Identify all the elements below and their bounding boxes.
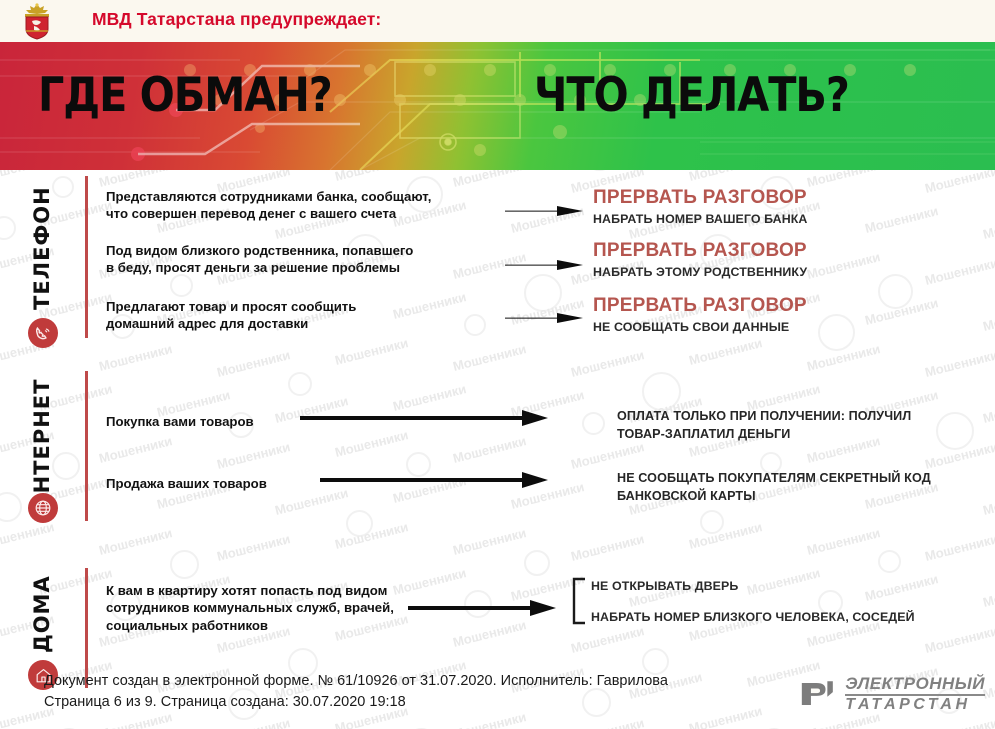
et-logo-mark — [800, 677, 838, 711]
arrow-icon — [505, 309, 585, 327]
telephone-row-1-left: Представляются сотрудниками банка, сообщ… — [106, 188, 486, 223]
telephone-row-3-right-head: ПРЕРВАТЬ РАЗГОВОР — [593, 295, 807, 317]
et-logo-line-1: ЭЛЕКТРОННЫЙ — [845, 675, 985, 696]
banner: ГДЕ ОБМАН? ЧТО ДЕЛАТЬ? — [0, 42, 995, 170]
watermark-text: Мошенники — [569, 531, 645, 564]
bracket-icon — [571, 577, 587, 625]
section-internet: ИНТЕРНЕТ Покупка вами товаров ОПЛАТА ТОЛ… — [0, 365, 995, 535]
watermark-text: Мошенники — [923, 531, 995, 564]
globe-icon — [28, 493, 58, 523]
arrow-icon — [300, 408, 550, 428]
et-logo-line-2: ТАТАРСТАН — [845, 696, 985, 714]
watermark-text: Мошенники — [215, 531, 291, 564]
footer-line-2: Страница 6 из 9. Страница создана: 30.07… — [44, 692, 668, 713]
mvd-emblem-icon — [16, 2, 58, 40]
arrow-icon — [505, 202, 585, 220]
content-area: МошенникиМошенникиМошенникиМошенникиМоше… — [0, 170, 995, 729]
electronic-tatarstan-logo: ЭЛЕКТРОННЫЙ ТАТАРСТАН — [800, 672, 985, 716]
telephone-row-1-right-sub: НАБРАТЬ НОМЕР ВАШЕГО БАНКА — [593, 212, 807, 226]
telephone-row-2-right-sub: НАБРАТЬ ЭТОМУ РОДСТВЕННИКУ — [593, 265, 807, 279]
banner-right-title: ЧТО ДЕЛАТЬ? — [534, 68, 849, 123]
section-telephone: ТЕЛЕФОН Представляются сотрудниками банк… — [0, 170, 995, 345]
telephone-row-3-left: Предлагают товар и просят сообщить домаш… — [106, 298, 486, 333]
section-rule-telephone — [85, 176, 88, 338]
footer-metadata: Документ создан в электронной форме. № 6… — [44, 671, 668, 713]
section-label-telephone: ТЕЛЕФОН — [30, 178, 54, 318]
infographic-page: МВД Татарстана предупреждает: — [0, 0, 995, 729]
top-header: МВД Татарстана предупреждает: — [0, 0, 995, 42]
section-rule-home — [85, 568, 88, 688]
arrow-icon — [408, 598, 558, 618]
phone-icon — [28, 318, 58, 348]
arrow-icon — [320, 470, 550, 490]
arrow-icon — [505, 256, 585, 274]
internet-row-1-right: ОПЛАТА ТОЛЬКО ПРИ ПОЛУЧЕНИИ: ПОЛУЧИЛ ТОВ… — [617, 407, 987, 444]
telephone-row-1-right-head: ПРЕРВАТЬ РАЗГОВОР — [593, 187, 807, 209]
section-label-home: ДОМА — [30, 570, 54, 658]
section-rule-internet — [85, 371, 88, 521]
home-bracket-item-1: НЕ ОТКРЫВАТЬ ДВЕРЬ — [591, 579, 738, 593]
internet-row-2-right: НЕ СООБЩАТЬ ПОКУПАТЕЛЯМ СЕКРЕТНЫЙ КОД БА… — [617, 469, 987, 506]
home-bracket-item-2: НАБРАТЬ НОМЕР БЛИЗКОГО ЧЕЛОВЕКА, СОСЕДЕЙ — [591, 610, 915, 624]
banner-left-title: ГДЕ ОБМАН? — [38, 68, 332, 123]
telephone-row-2-left: Под видом близкого родственника, попавше… — [106, 242, 486, 277]
telephone-row-2-right-head: ПРЕРВАТЬ РАЗГОВОР — [593, 240, 807, 262]
internet-row-2-left: Продажа ваших товаров — [106, 475, 356, 492]
telephone-row-3-right-sub: НЕ СООБЩАТЬ СВОИ ДАННЫЕ — [593, 320, 789, 334]
page-title: МВД Татарстана предупреждает: — [92, 9, 381, 30]
footer-line-1: Документ создан в электронной форме. № 6… — [44, 671, 668, 692]
